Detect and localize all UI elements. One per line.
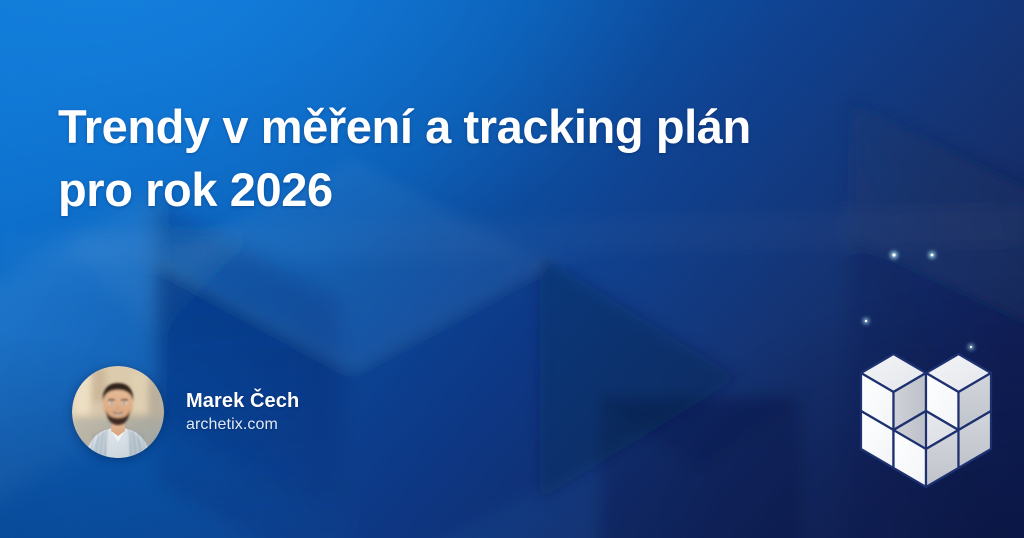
page-title: Trendy v měření a tracking plán pro rok … bbox=[58, 96, 918, 221]
brand-logo bbox=[836, 240, 1016, 525]
author-website: archetix.com bbox=[186, 416, 299, 434]
author-block: Marek Čech archetix.com bbox=[72, 366, 299, 458]
social-share-banner: Trendy v měření a tracking plán pro rok … bbox=[0, 0, 1024, 538]
avatar bbox=[72, 366, 164, 458]
author-name: Marek Čech bbox=[186, 390, 299, 413]
author-text: Marek Čech archetix.com bbox=[186, 390, 299, 434]
isometric-cube-logo-icon bbox=[836, 240, 1016, 525]
avatar-photo-portrait-icon bbox=[72, 366, 164, 458]
